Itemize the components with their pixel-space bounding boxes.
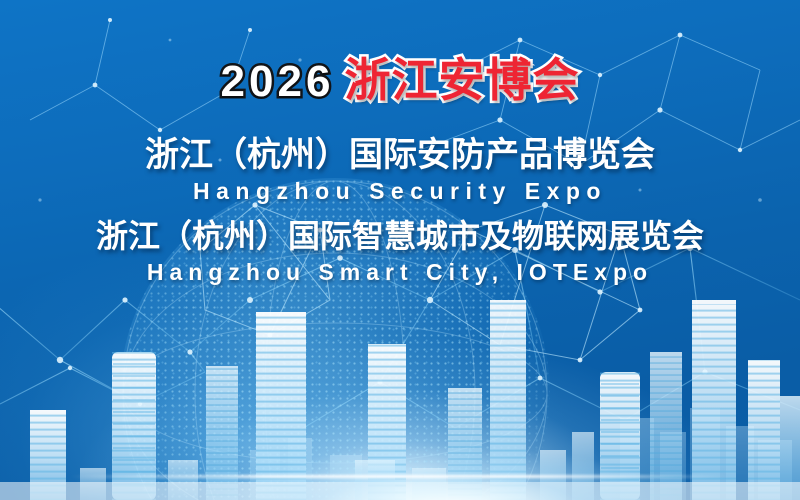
expo-one-title-en: Hangzhou Security Expo [0,177,800,206]
title-name-cn: 浙江安博会 [344,56,579,104]
expo-one-block: 浙江（杭州）国际安防产品博览会 Hangzhou Security Expo [0,135,800,206]
horizon-glow-line-icon [70,475,730,478]
poster-text-block: 2026 浙江安博会 浙江（杭州）国际安防产品博览会 Hangzhou Secu… [0,0,800,287]
horizon-glow-graphic [0,410,800,500]
title-year: 2026 [221,59,335,105]
city-skyline-graphic [0,300,800,500]
expo-one-title-cn: 浙江（杭州）国际安防产品博览会 [0,135,800,175]
poster-title: 2026 浙江安博会 [0,56,800,105]
expo-two-block: 浙江（杭州）国际智慧城市及物联网展览会 Hangzhou Smart City,… [0,218,800,287]
expo-two-title-cn: 浙江（杭州）国际智慧城市及物联网展览会 [0,218,800,256]
expo-poster: 2026 浙江安博会 浙江（杭州）国际安防产品博览会 Hangzhou Secu… [0,0,800,500]
expo-two-title-en: Hangzhou Smart City, IOTExpo [0,258,800,287]
